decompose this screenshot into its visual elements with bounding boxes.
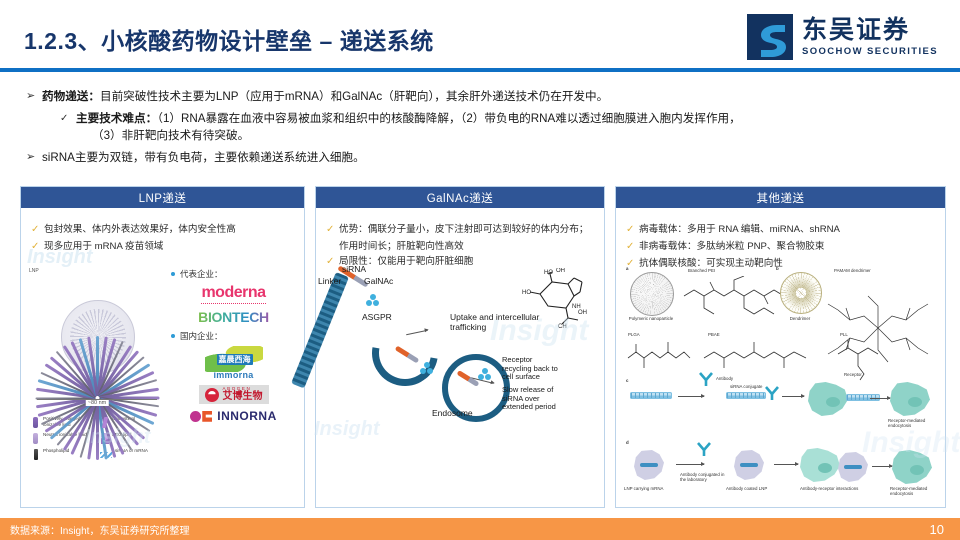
page-number: 10 (930, 522, 944, 537)
overseas-companies-heading: 代表企业： (171, 268, 296, 280)
note-item: ✓ 局限性：仅能用于靶向肝脏细胞 (326, 254, 596, 269)
galnac-ligand-icon (478, 368, 491, 380)
legend-item: siRNA or mRNA (100, 448, 165, 461)
immorna-leaf-icon: 嘉晨西海 (205, 346, 263, 372)
galnac-sugar-structure-icon: HOOH HOOH NHCH (522, 268, 592, 330)
immorna-chinese-name: 嘉晨西海 (217, 354, 253, 365)
bullet-dot-icon (171, 334, 175, 338)
branched-pei-structure-icon (680, 276, 790, 324)
panel-title-galnac: GalNAc递送 (316, 187, 604, 208)
pbae-structure-icon (702, 340, 810, 374)
check-icon: ✓ (626, 222, 639, 237)
sirna-duplex-icon (630, 392, 672, 399)
check-icon: ✓ (31, 222, 44, 237)
svg-text:NH: NH (572, 304, 581, 310)
bullet-lead-label: 主要技术难点： (76, 112, 157, 125)
label-pbae: PBAE (708, 332, 720, 337)
check-icon: ✓ (326, 222, 339, 237)
label-polymeric-nanoparticle: Polymeric nanoparticle (628, 316, 674, 321)
bullet-item-key-difficulties: ✓ 主要技术难点：（1）RNA暴露在血液中容易被血浆和组织中的核酸酶降解，（2）… (60, 110, 940, 145)
panel-lnp: LNP递送 ✓ 包封效果、体内外表达效果好，体内安全性高 ✓ 现多应用于 mRN… (20, 186, 305, 508)
panel-title-lnp: LNP递送 (21, 187, 304, 208)
delivery-panels: LNP递送 ✓ 包封效果、体内外表达效果好，体内安全性高 ✓ 现多应用于 mRN… (20, 186, 946, 508)
target-cell-icon (890, 382, 930, 416)
label-linker: Linker (318, 276, 341, 286)
domestic-companies-heading: 国内企业： (171, 330, 296, 342)
lnp-scale-label: ~80 nm (86, 400, 109, 406)
figure-panel-label-b: b (776, 266, 779, 271)
arrow-icon (678, 396, 704, 397)
logo-chinese-name: 东吴证券 (802, 18, 938, 43)
lnp-scale-bar: ~80 nm (37, 399, 157, 414)
footer-bar: 数据来源：Insight，东吴证券研究所整理 10 (0, 518, 960, 540)
target-cell-icon (808, 382, 848, 416)
label-lnp-carrying-mrna: LNP carrying mRNA (624, 486, 672, 491)
label-plga: PLGA (628, 332, 640, 337)
note-text: 现多应用于 mRNA 疫苗领域 (44, 239, 163, 254)
note-item: ✓ 病毒载体：多用于 RNA 编辑、miRNA、shRNA (626, 222, 937, 237)
galnac-ligand-icon (420, 362, 433, 374)
arrow-icon (676, 464, 704, 465)
panel-title-other: 其他递送 (616, 187, 945, 208)
innorna-mark-icon (190, 411, 212, 422)
target-cell-icon (800, 448, 840, 482)
label-dendrimer: Dendrimer (780, 316, 820, 321)
label-receptor: Receptor (844, 372, 862, 377)
slide: 1.2.3、小核酸药物设计壁垒 – 递送系统 东吴证券 SOOCHOW SECU… (0, 0, 960, 540)
antibody-coated-lnp-icon (838, 452, 868, 482)
sirna-duplex-icon (726, 392, 766, 399)
header-divider (0, 68, 960, 72)
label-antibody-coated-lnp: Antibody coated LNP (726, 486, 774, 491)
arrow-icon (782, 396, 804, 397)
bullet-text: 药物递送：目前突破性技术主要为LNP（应用于mRNA）和GalNAc（肝靶向），… (42, 88, 608, 106)
label-sirna: siRNA (342, 264, 366, 274)
panel-notes-galnac: ✓ 优势：偶联分子量小，皮下注射即可达到较好的体内分布； 作用时间长；肝脏靶向性… (316, 208, 604, 269)
note-item: ✓ 优势：偶联分子量小，皮下注射即可达到较好的体内分布； (326, 222, 596, 237)
dendrimer-icon (780, 272, 822, 314)
bullet-dot-icon (171, 272, 175, 276)
label-antibody-receptor-interactions: Antibody-receptor interactions (800, 486, 862, 491)
check-icon: ✓ (326, 254, 339, 269)
label-receptor-mediated-endocytosis: Receptor-mediated endocytosis (888, 418, 932, 429)
antibody-icon (764, 386, 780, 401)
bullet-body-line2: （3）非肝靶向技术有待突破。 (92, 127, 741, 145)
lnp-particle-icon: /*spokes injected below*/ (35, 274, 159, 398)
watermark: Insight (314, 418, 380, 441)
label-antibody: Antibody (716, 376, 733, 381)
panel-notes-lnp: ✓ 包封效果、体内外表达效果好，体内安全性高 ✓ 现多应用于 mRNA 疫苗领域 (21, 208, 304, 254)
bullet-item-drug-delivery: ➢ 药物递送：目前突破性技术主要为LNP（应用于mRNA）和GalNAc（肝靶向… (26, 88, 940, 106)
label-galnac: GalNAc (364, 276, 393, 286)
bullet-marker-arrow: ➢ (26, 88, 42, 105)
svg-text:OH: OH (578, 310, 587, 316)
antibody-coated-lnp-icon (734, 450, 764, 480)
soochow-logo-icon (747, 14, 793, 60)
figure-panel-label-d: d (626, 440, 629, 445)
overseas-label: 代表企业： (180, 268, 223, 280)
arrow-icon (774, 464, 798, 465)
note-text: 非病毒载体：多肽纳米粒 PNP、聚合物胶束 (639, 239, 825, 254)
label-sirna-conjugate: siRNA conjugate (730, 384, 762, 389)
bullet-body: siRNA主要为双链，带有负电荷，主要依赖递送系统进入细胞。 (42, 149, 365, 167)
label-branched-pei: Branched PEI (688, 268, 715, 273)
other-delivery-diagram: a Polymeric nanoparticle Branched PEI b (622, 266, 939, 505)
polymeric-nanoparticle-icon (630, 272, 674, 316)
bullet-marker-arrow: ➢ (26, 149, 42, 166)
moderna-wordmark: moderna (201, 284, 265, 304)
svg-text:CH: CH (558, 324, 567, 330)
note-text: 优势：偶联分子量小，皮下注射即可达到较好的体内分布； (339, 222, 588, 237)
galnac-ligand-icon (366, 294, 379, 306)
svg-text:HO: HO (522, 290, 531, 296)
positively-charged-lipid-icon (31, 416, 40, 429)
label-receptor-recycling: Receptor recycling back to cell surface (502, 356, 558, 382)
note-text: 病毒载体：多用于 RNA 编辑、miRNA、shRNA (639, 222, 840, 237)
logo-biontech: BIONTECH (171, 309, 296, 325)
innorna-wordmark: INNORNA (217, 409, 277, 423)
bullet-body: （1）RNA暴露在血液中容易被血浆和组织中的核酸酶降解，（2）带负电的RNA难以… (157, 112, 741, 125)
logo-immorna: 嘉晨西海 immorna (171, 346, 296, 380)
logo-abogen: ABOGEN 艾博生物 (171, 385, 296, 404)
antibody-icon (696, 442, 712, 457)
figure-panel-label-c: c (626, 378, 628, 383)
panel-other: 其他递送 ✓ 病毒载体：多用于 RNA 编辑、miRNA、shRNA ✓ 非病毒… (615, 186, 946, 508)
bullet-lead-label: 药物递送： (42, 90, 100, 103)
note-text-continued: 作用时间长；肝脏靶向性高效 (339, 239, 596, 254)
figure-panel-label-a: a (626, 266, 628, 271)
bullet-marker-check: ✓ (60, 110, 76, 127)
arrow-icon (872, 466, 892, 467)
target-cell-icon (892, 450, 932, 484)
note-item: ✓ 现多应用于 mRNA 疫苗领域 (31, 239, 296, 254)
phospholipid-icon (31, 448, 40, 461)
logo-english-name: SOOCHOW SECURITIES (802, 47, 938, 57)
biontech-wordmark: BIONTECH (198, 309, 269, 325)
label-slow-release: Slow release of siRNA over extended peri… (502, 386, 560, 412)
arrow-icon (870, 398, 890, 399)
bullet-body: 目前突破性技术主要为LNP（应用于mRNA）和GalNAc（肝靶向），其余肝外递… (100, 90, 608, 103)
domestic-label: 国内企业： (180, 330, 223, 342)
label-asgpr: ASGPR (362, 312, 388, 322)
note-text: 包封效果、体内外表达效果好，体内安全性高 (44, 222, 236, 237)
panel-notes-other: ✓ 病毒载体：多用于 RNA 编辑、miRNA、shRNA ✓ 非病毒载体：多肽… (616, 208, 945, 271)
note-item: ✓ 包封效果、体内外表达效果好，体内安全性高 (31, 222, 296, 237)
label-receptor-mediated-endocytosis: Receptor-mediated endocytosis (890, 486, 934, 497)
bullet-list: ➢ 药物递送：目前突破性技术主要为LNP（应用于mRNA）和GalNAc（肝靶向… (26, 88, 940, 170)
label-endosome: Endosome (432, 408, 472, 418)
panel-body-lnp: ✓ 包封效果、体内外表达效果好，体内安全性高 ✓ 现多应用于 mRNA 疫苗领域… (21, 208, 304, 507)
note-item: ✓ 非病毒载体：多肽纳米粒 PNP、聚合物胶束 (626, 239, 937, 254)
plga-structure-icon (626, 340, 692, 374)
check-icon: ✓ (31, 239, 44, 254)
data-source-text: 数据来源：Insight，东吴证券研究所整理 (10, 522, 189, 537)
neutral-lipid-icon (31, 432, 40, 445)
label-antibody-conjugated-lab: Antibody conjugated in the laboratory (680, 472, 726, 483)
antibody-icon (698, 372, 714, 387)
lnp-diagram: LNP /*spokes injected below*/ ~80 nm Pos… (27, 270, 167, 464)
svg-text:HO: HO (544, 270, 553, 276)
abogen-mark-icon (205, 388, 219, 402)
page-title: 1.2.3、小核酸药物设计壁垒 – 递送系统 (24, 22, 434, 56)
check-icon: ✓ (626, 239, 639, 254)
lnp-company-list: 代表企业： moderna BIONTECH 国内企业： (171, 266, 296, 428)
panel-body-galnac: ✓ 优势：偶联分子量小，皮下注射即可达到较好的体内分布； 作用时间长；肝脏靶向性… (316, 208, 604, 507)
lnp-particle-icon (634, 450, 664, 480)
company-logo: 东吴证券 SOOCHOW SECURITIES (747, 14, 938, 60)
panel-galnac: GalNAc递送 ✓ 优势：偶联分子量小，皮下注射即可达到较好的体内分布； 作用… (315, 186, 605, 508)
abogen-chinese-name: 艾博生物 (223, 392, 263, 403)
label-pll: PLL (840, 332, 848, 337)
logo-moderna: moderna (171, 284, 296, 304)
bullet-item-sirna: ➢ siRNA主要为双链，带有负电荷，主要依赖递送系统进入细胞。 (26, 149, 940, 167)
panel-body-other: ✓ 病毒载体：多用于 RNA 编辑、miRNA、shRNA ✓ 非病毒载体：多肽… (616, 208, 945, 507)
logo-innorna: INNORNA (171, 409, 296, 423)
galnac-diagram: siRNA Linker GalNAc ASGPR Uptake and int… (320, 268, 600, 503)
bullet-text: 主要技术难点：（1）RNA暴露在血液中容易被血浆和组织中的核酸酶降解，（2）带负… (76, 110, 741, 145)
label-pamam-dendrimer: PAMAM dendrimer (834, 268, 871, 273)
svg-text:OH: OH (556, 268, 565, 274)
